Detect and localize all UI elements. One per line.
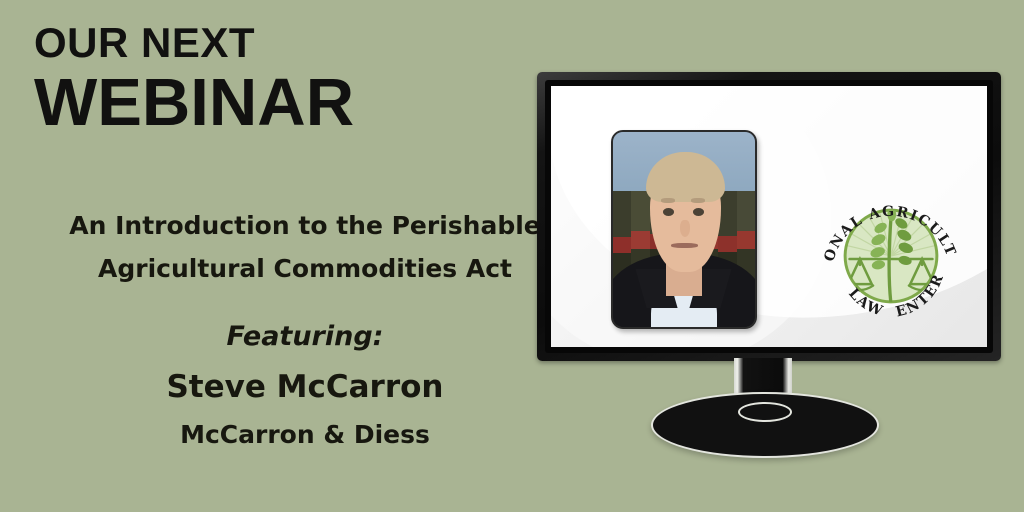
subject-line-2: Agricultural Commodities Act	[20, 247, 590, 290]
photo-mouth	[671, 243, 698, 248]
subject-line-1: An Introduction to the Perishable	[20, 204, 590, 247]
photo-eyebrow-right	[691, 198, 705, 203]
speaker-name: Steve McCarron	[20, 370, 590, 404]
featuring-block: Featuring: Steve McCarron McCarron & Die…	[20, 322, 590, 448]
webinar-subject: An Introduction to the Perishable Agricu…	[20, 204, 590, 290]
webinar-promo-slide: OUR NEXT WEBINAR An Introduction to the …	[0, 0, 1024, 512]
photo-eye-right	[693, 208, 704, 216]
photo-eyebrow-left	[661, 198, 675, 203]
national-agricultural-law-center-logo: NATIONAL AGRICULTURAL LAW CENTER	[817, 182, 965, 330]
photo-nose	[680, 220, 690, 238]
monitor-screen: NATIONAL AGRICULTURAL LAW CENTER	[551, 86, 987, 347]
headline-eyebrow: OUR NEXT	[34, 22, 504, 65]
photo-eye-left	[663, 208, 674, 216]
computer-monitor-illustration: NATIONAL AGRICULTURAL LAW CENTER	[537, 72, 1001, 361]
monitor-stand-base-collar	[738, 402, 792, 422]
headline-block: OUR NEXT WEBINAR	[34, 22, 504, 137]
headline-title: WEBINAR	[34, 69, 504, 137]
speaker-photo	[611, 130, 757, 329]
speaker-firm: McCarron & Diess	[20, 421, 590, 449]
featuring-label: Featuring:	[20, 322, 590, 352]
